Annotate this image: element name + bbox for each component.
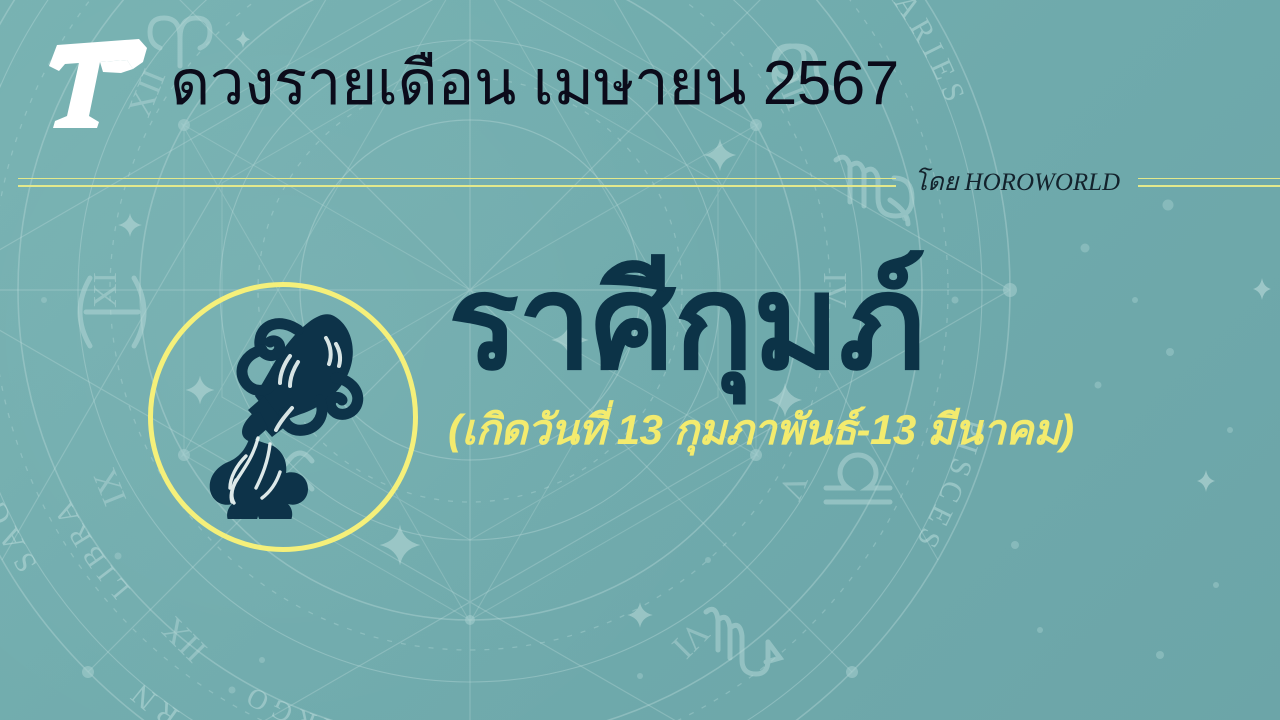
sign-text-block: ราศีกุมภ์ (เกิดวันที่ 13 กุมภาพันธ์-13 ม… <box>448 252 1074 463</box>
zodiac-date-range: (เกิดวันที่ 13 กุมภาพันธ์-13 มีนาคม) <box>448 397 1074 463</box>
letter-t-logo-icon[interactable] <box>38 17 158 137</box>
divider-rule-right <box>1138 178 1280 187</box>
zodiac-sign-badge <box>148 282 418 552</box>
main-content: ราศีกุมภ์ (เกิดวันที่ 13 กุมภาพันธ์-13 ม… <box>0 204 1280 720</box>
aquarius-water-urn-icon <box>186 304 386 519</box>
banner-canvas: TAURUS ARIES PISCES AQUARIUS CAPRICORN S… <box>0 0 1280 720</box>
zodiac-sign-name: ราศีกุมภ์ <box>448 252 925 395</box>
byline-credit: โดย HOROWORLD <box>896 162 1138 202</box>
header-bar: ดวงรายเดือน เมษายน 2567 <box>0 0 1280 160</box>
byline-divider-row: โดย HOROWORLD <box>0 160 1280 204</box>
divider-rule-left <box>18 178 896 187</box>
page-title: ดวงรายเดือน เมษายน 2567 <box>170 34 899 132</box>
